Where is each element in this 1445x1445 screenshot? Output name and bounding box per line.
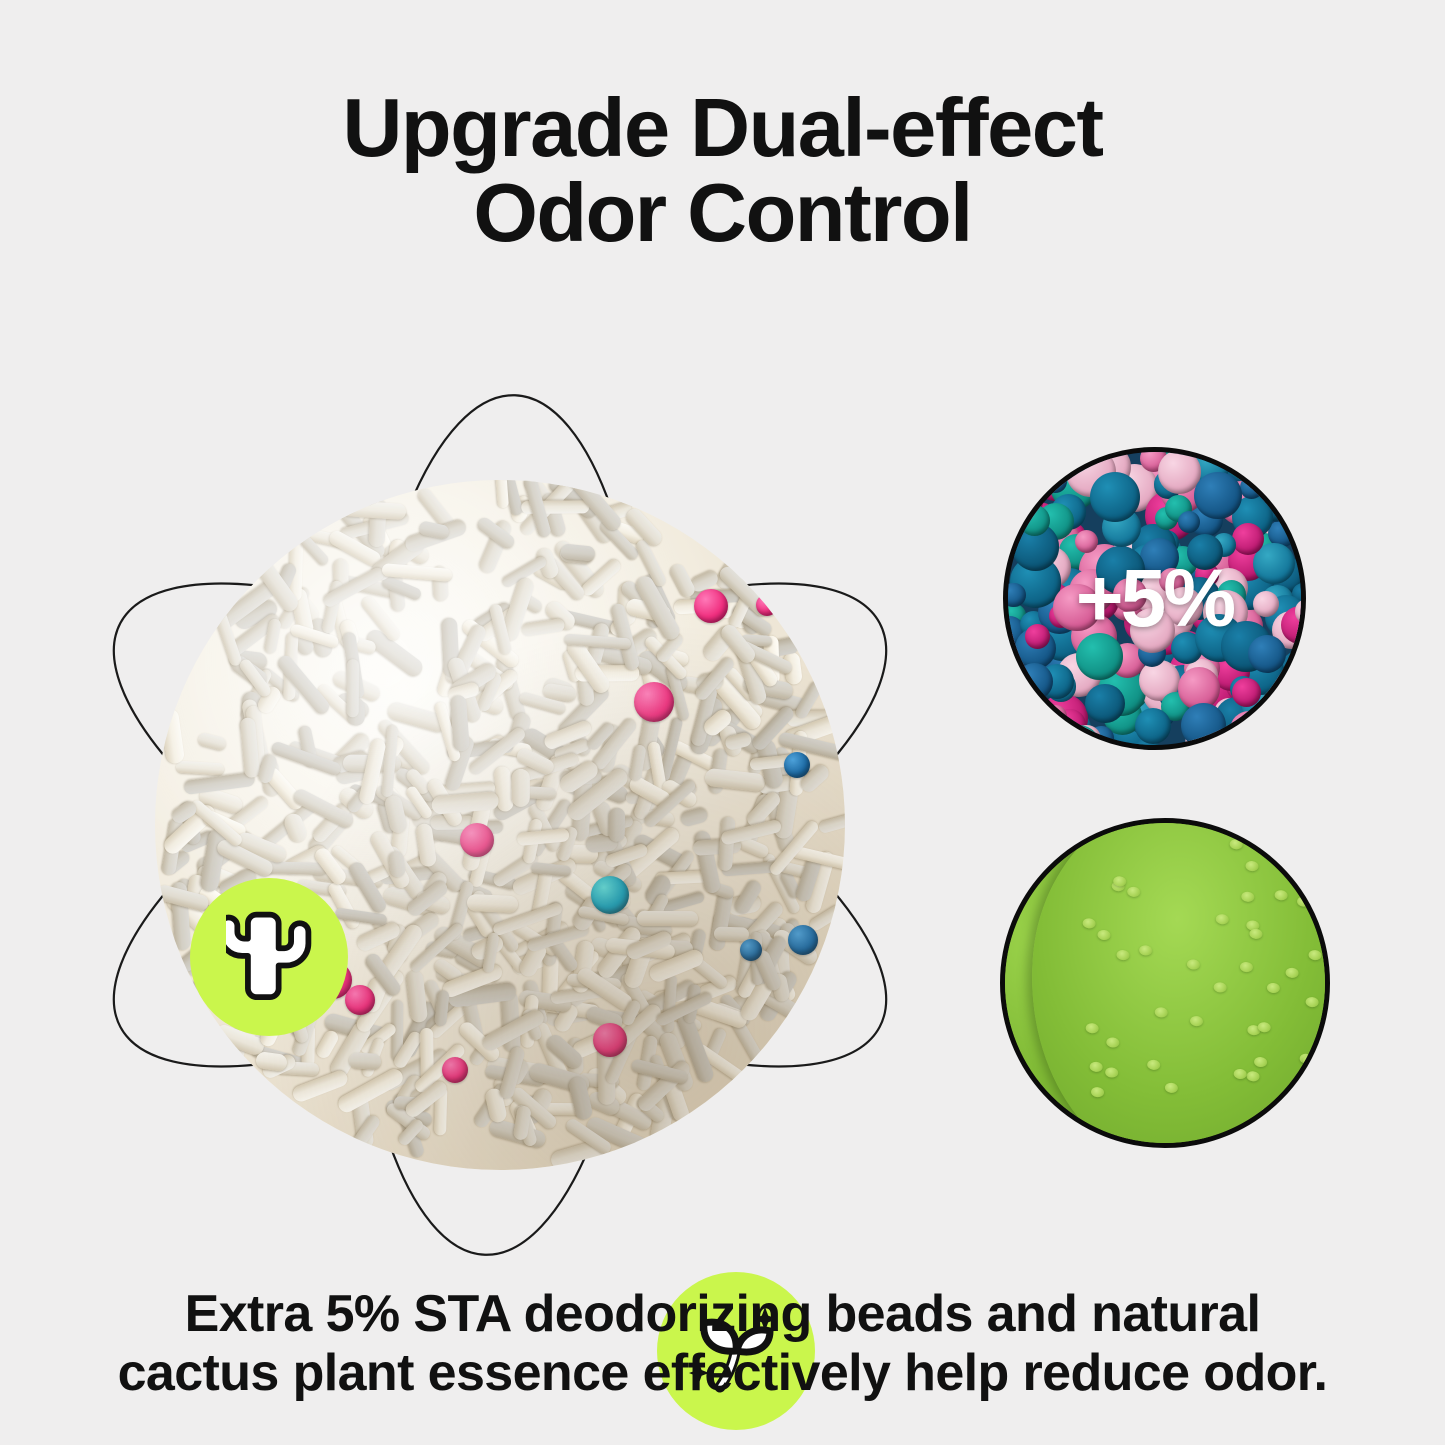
litter-ball-surface <box>155 480 845 1170</box>
feature-circle-beads[interactable]: +5% <box>1003 447 1306 750</box>
cactus-icon <box>226 909 312 1005</box>
badge-cactus[interactable] <box>190 878 348 1036</box>
caption-line-1: Extra 5% STA deodorizing beads and natur… <box>185 1285 1261 1343</box>
promo-page: Upgrade Dual-effect Odor Control <box>0 0 1445 1445</box>
plus-five-percent-label: +5% <box>1008 452 1301 745</box>
caption-text: Extra 5% STA deodorizing beads and natur… <box>60 1285 1385 1404</box>
caption-line-2: cactus plant essence effectively help re… <box>60 1344 1385 1403</box>
headline-line-2: Odor Control <box>0 171 1445 256</box>
litter-ball <box>155 480 845 1170</box>
atom-illustration <box>35 300 965 1230</box>
feature-circle-cactus-pads[interactable] <box>1000 818 1330 1148</box>
page-title: Upgrade Dual-effect Odor Control <box>0 86 1445 255</box>
headline-line-1: Upgrade Dual-effect <box>342 81 1102 174</box>
